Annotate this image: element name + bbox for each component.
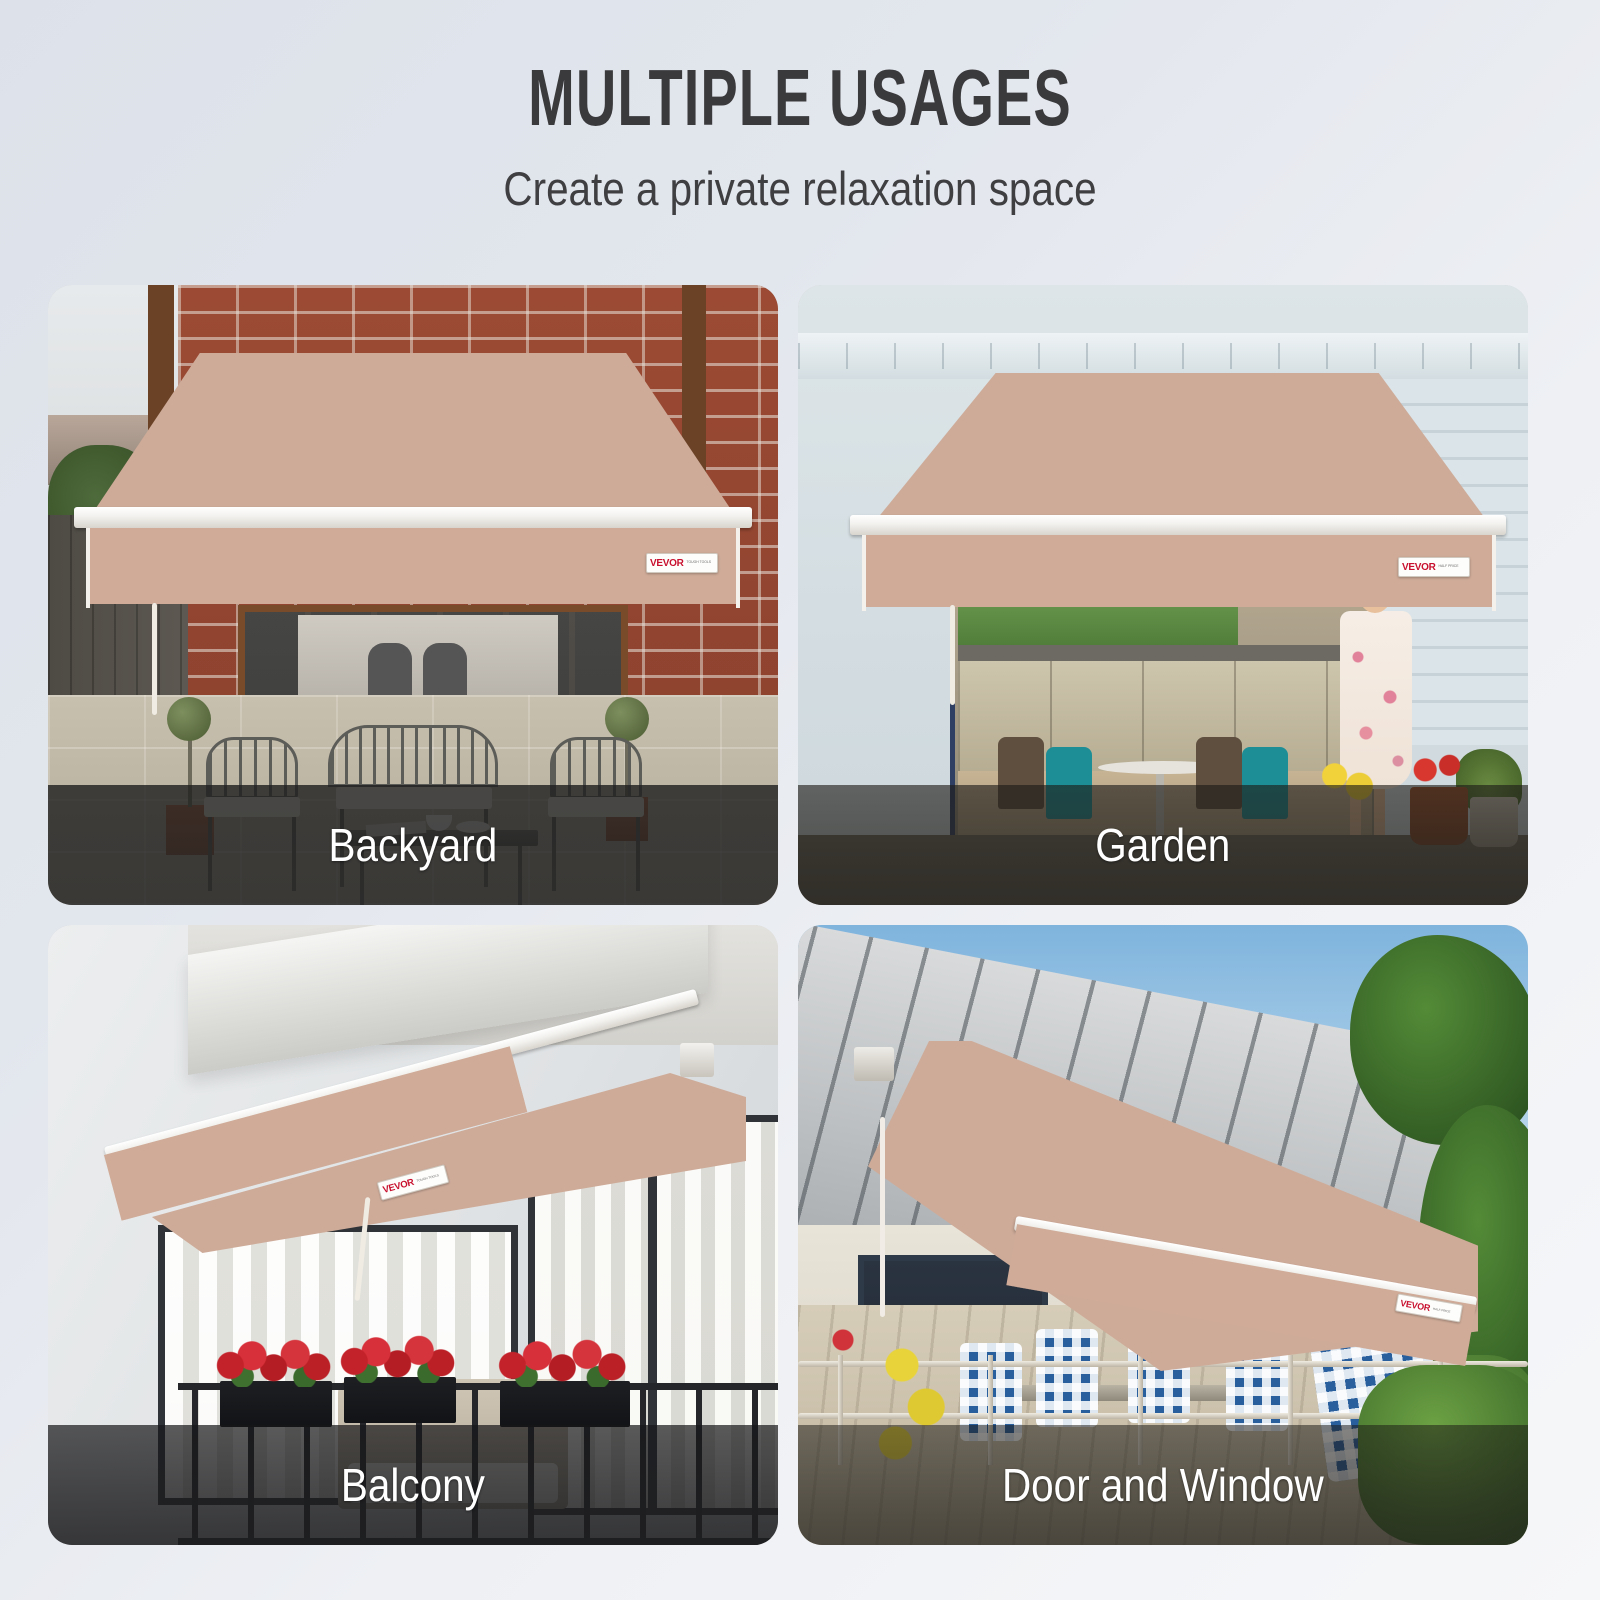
vevor-logo-badge: VEVOR TOUGH TOOLS	[646, 553, 718, 573]
awning-canopy	[90, 353, 736, 517]
valance-trim-right	[736, 528, 740, 608]
usage-panel-grid: VEVOR TOUGH TOOLS Backyard	[48, 285, 1508, 1545]
vevor-wordmark: VEVOR	[1402, 562, 1436, 573]
awning-scalloped-edge	[864, 581, 1494, 607]
topiary-right	[605, 697, 649, 741]
wall-bracket	[680, 1043, 714, 1077]
usage-panel-door-and-window[interactable]: VEVOR HALF PRICE Door and Window	[798, 925, 1528, 1545]
red-flowers	[216, 1339, 336, 1387]
flower-planter-box	[500, 1381, 630, 1427]
panel-caption: Door and Window	[1002, 1462, 1324, 1508]
flower-planter-box	[220, 1381, 332, 1427]
vevor-wordmark: VEVOR	[650, 558, 684, 569]
page-subtitle: Create a private relaxation space	[112, 164, 1488, 213]
bench-backrest	[328, 725, 498, 787]
soffit-slats	[798, 343, 1528, 369]
valance-trim-left	[86, 528, 90, 608]
caption-overlay-garden: Garden	[798, 785, 1528, 905]
vevor-tagline: HALF PRICE	[1433, 1307, 1451, 1313]
caption-overlay-balcony: Balcony	[48, 1425, 778, 1545]
panel-caption: Balcony	[341, 1462, 485, 1508]
usage-panel-garden[interactable]: VEVOR HALF PRICE Garden	[798, 285, 1528, 905]
vevor-tagline: TOUGH TOOLS	[416, 1174, 439, 1183]
usage-panel-balcony[interactable]: VEVOR TOUGH TOOLS Balcony	[48, 925, 778, 1545]
valance-trim-left	[862, 535, 866, 611]
panel-caption: Garden	[1095, 822, 1230, 868]
hand-crank-rod	[950, 605, 955, 705]
usage-panel-backyard[interactable]: VEVOR TOUGH TOOLS Backyard	[48, 285, 778, 905]
vevor-logo-badge: VEVOR HALF PRICE	[1398, 557, 1470, 577]
header: MULTIPLE USAGES Create a private relaxat…	[0, 0, 1600, 213]
caption-overlay-backyard: Backyard	[48, 785, 778, 905]
valance-trim-right	[1492, 535, 1496, 611]
red-flowers	[496, 1339, 634, 1387]
vevor-wordmark: VEVOR	[1400, 1298, 1431, 1313]
page-title: MULTIPLE USAGES	[240, 58, 1360, 138]
hand-crank-rod	[152, 603, 157, 715]
kitchen-counter	[958, 645, 1372, 661]
red-flower-pot	[808, 1315, 878, 1365]
vevor-tagline: HALF PRICE	[1439, 565, 1459, 568]
awning-roller-bar	[74, 507, 752, 528]
red-flowers	[340, 1335, 460, 1383]
caption-overlay-door-window: Door and Window	[798, 1425, 1528, 1545]
panel-caption: Backyard	[329, 822, 498, 868]
hand-crank-rod	[880, 1117, 885, 1317]
flower-planter-box	[344, 1377, 456, 1423]
awning-roller-bar	[850, 515, 1506, 535]
awning-valance	[88, 528, 738, 604]
wall-bracket	[854, 1047, 894, 1081]
awning-scalloped-edge	[88, 578, 738, 604]
vevor-tagline: TOUGH TOOLS	[687, 561, 712, 564]
topiary-left	[167, 697, 211, 741]
vevor-wordmark: VEVOR	[382, 1177, 416, 1196]
